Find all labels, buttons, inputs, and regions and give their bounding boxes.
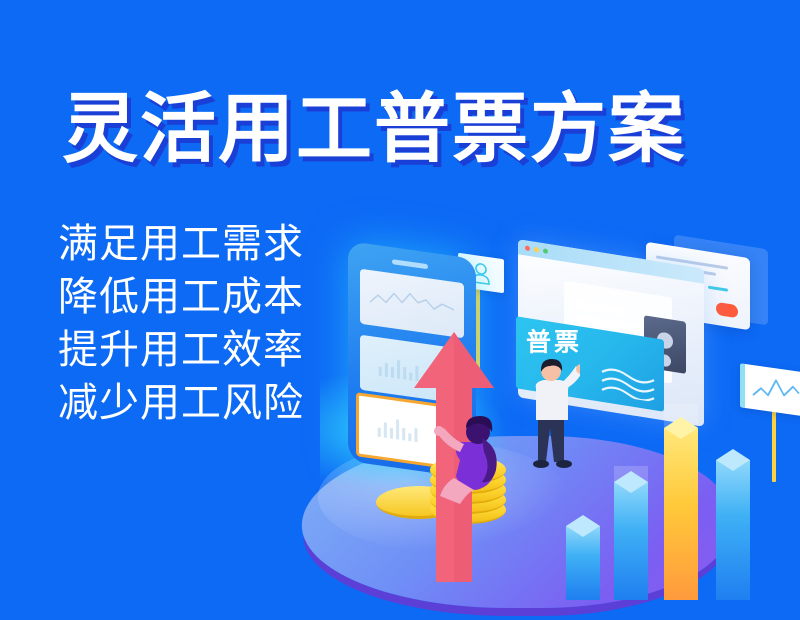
illustration: 普票	[280, 240, 800, 620]
doc-text-line	[708, 286, 728, 292]
minimize-icon	[534, 247, 539, 253]
bar-1	[566, 526, 600, 600]
benefit-item-1: 满足用工需求	[58, 218, 304, 271]
bar-2	[614, 482, 648, 600]
bar-3	[664, 428, 698, 600]
person-male	[524, 358, 580, 486]
stamp-icon	[716, 302, 738, 318]
bar-top-face	[566, 515, 600, 537]
invoice-label-text: 普票	[526, 330, 582, 355]
line-chart-icon	[368, 284, 458, 323]
bar-top-face	[716, 449, 750, 471]
wave-chart-icon	[745, 364, 800, 417]
benefit-item-4: 减少用工风险	[58, 377, 304, 430]
benefit-item-3: 提升用工效率	[58, 324, 304, 377]
benefit-list: 满足用工需求 降低用工成本 提升用工效率 减少用工风险	[58, 218, 304, 430]
wave-lines-icon	[600, 364, 656, 403]
bar-4	[716, 460, 750, 600]
page-title: 灵活用工普票方案	[62, 92, 686, 168]
person-female	[430, 412, 520, 516]
phone-linechart-card	[360, 269, 464, 339]
phone-speaker	[392, 259, 428, 269]
linechart-card	[740, 363, 800, 416]
maximize-icon	[543, 248, 548, 254]
promo-banner: 灵活用工普票方案 满足用工需求 降低用工成本 提升用工效率 减少用工风险	[0, 0, 800, 620]
bar-chart	[560, 420, 780, 600]
close-icon	[525, 245, 530, 251]
bar-top-face	[614, 471, 648, 493]
benefit-item-2: 降低用工成本	[58, 271, 304, 324]
bar-top-face	[664, 417, 698, 439]
